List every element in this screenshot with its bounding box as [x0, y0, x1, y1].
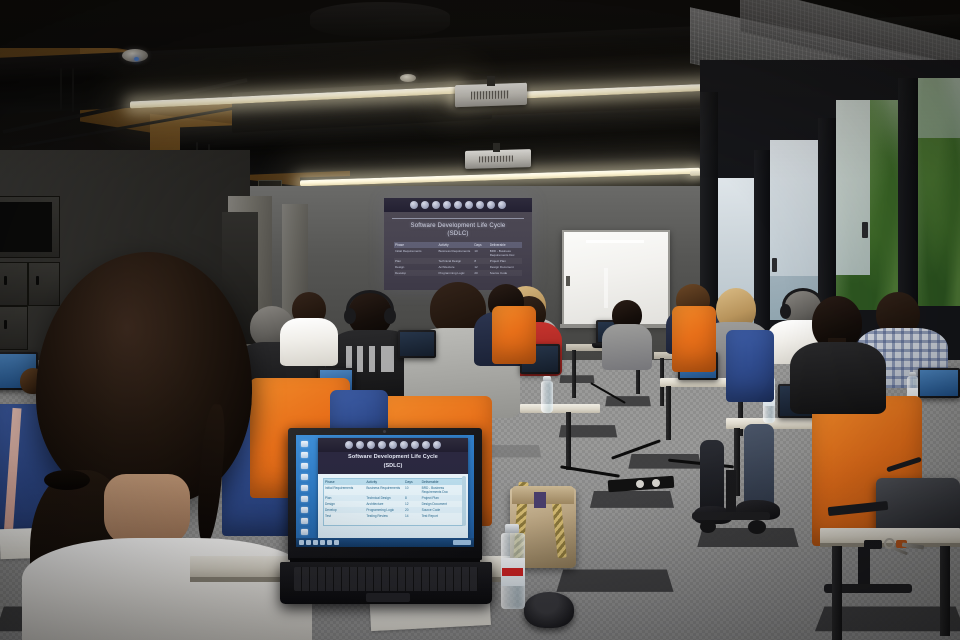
desk-leg	[940, 546, 950, 636]
projection-table-cell: BRD - Business Requirements Doc	[489, 248, 522, 258]
projection-screen: Software Development Life Cycle (SDLC) P…	[384, 198, 532, 290]
window-handle-2[interactable]	[772, 258, 777, 272]
chair-base-mid	[692, 512, 770, 520]
chair-wheel	[700, 520, 716, 533]
locker-handle-2[interactable]	[36, 276, 39, 285]
ceiling-duct-round	[310, 2, 450, 38]
projection-table: Phase Activity Days Deliverable Initial …	[394, 242, 522, 284]
laptop-table-cell: Business Requirements	[365, 485, 404, 495]
smoke-detector-icon	[122, 49, 148, 62]
desktop-icon[interactable]	[301, 452, 308, 458]
headphone-cup-icon-3	[384, 308, 396, 324]
laptop-webcam-icon	[383, 430, 386, 433]
window-mullion-3	[898, 78, 918, 314]
whiteboard-glare-2	[604, 268, 608, 308]
whiteboard-marker-clip[interactable]	[566, 276, 570, 286]
student-laptop[interactable]: Software Development Life Cycle (SDLC) P…	[288, 428, 482, 560]
projection-table-cell: 20	[473, 270, 488, 276]
search-icon	[421, 201, 429, 209]
floor-tile	[605, 396, 651, 406]
window-blind-1	[712, 178, 754, 298]
laptop-keyboard[interactable]	[294, 567, 478, 591]
presentation-window[interactable]: Software Development Life Cycle (SDLC) P…	[318, 438, 468, 538]
bottle-label-brand	[502, 568, 523, 576]
taskbar-item-icon[interactable]	[327, 540, 332, 545]
laptop-table-cell: Test	[324, 513, 365, 519]
globe-icon	[432, 201, 440, 209]
wall-locker-lower-2	[28, 262, 60, 306]
floor-tile	[556, 569, 673, 591]
headphone-cup-icon-2	[344, 308, 356, 324]
window-mullion-1	[754, 150, 770, 340]
projection-slide-title-line1: Software Development Life Cycle	[390, 223, 526, 230]
grid-icon	[498, 201, 506, 209]
desktop-icon[interactable]	[301, 529, 308, 535]
taskbar-item-icon[interactable]	[313, 540, 318, 545]
chair-wheel	[748, 520, 766, 534]
ceiling-hanger-2	[72, 68, 74, 112]
laptop-table-cell: Testing Review	[365, 513, 404, 519]
desktop-icon[interactable]	[301, 496, 308, 502]
window-blind-2	[770, 140, 818, 276]
laptop-slide-title-line2: (SDLC)	[322, 463, 464, 469]
wall-locker-opening	[0, 202, 52, 252]
smoke-detector-secondary-icon	[400, 74, 416, 82]
car-keys[interactable]	[864, 540, 882, 549]
desktop-icon[interactable]	[301, 474, 308, 480]
projection-divider	[392, 218, 524, 219]
whiteboard-glare	[586, 240, 644, 243]
desk-leg	[572, 350, 576, 398]
desktop-icon-column	[299, 439, 313, 539]
chair-blue-right-mid[interactable]	[726, 330, 774, 402]
computer-mouse[interactable]	[524, 592, 574, 628]
power-socket-icon	[636, 480, 644, 488]
projection-table-cell: Source Code	[489, 270, 522, 276]
laptop-taskbar[interactable]	[296, 538, 474, 547]
search-icon[interactable]	[356, 441, 364, 449]
globe-icon[interactable]	[367, 441, 375, 449]
start-button-icon[interactable]	[299, 540, 304, 545]
projection-slide-title-line2: (SDLC)	[390, 231, 526, 238]
gear-icon[interactable]	[411, 441, 419, 449]
projection-table-cell: Programming Logic	[438, 270, 474, 276]
laptop-trackpad[interactable]	[366, 593, 410, 602]
projection-table-cell: Develop	[394, 270, 438, 276]
person-icon[interactable]	[400, 441, 408, 449]
projection-table-cell: Business Requirements	[438, 248, 474, 258]
locker-handle-1[interactable]	[4, 276, 7, 285]
desktop-icon[interactable]	[301, 485, 308, 491]
ceiling-hanger-1	[60, 68, 62, 110]
desk-leg	[832, 546, 842, 640]
student-back-grey-body	[602, 324, 652, 370]
laptop-keyboard-base[interactable]	[280, 562, 492, 604]
student-pale-shirt-body	[280, 318, 338, 366]
disc-icon	[443, 201, 451, 209]
foreground-student-neck	[104, 474, 190, 546]
floor-tile	[590, 491, 674, 508]
taskbar-item-icon[interactable]	[334, 540, 339, 545]
chair-orange-right-back[interactable]	[672, 306, 716, 372]
power-socket-icon-2	[652, 479, 660, 487]
laptop-slide-title-line1: Software Development Life Cycle	[322, 454, 464, 460]
student-right-ponytail-body	[790, 342, 886, 414]
taskbar-item-icon[interactable]	[320, 540, 325, 545]
desk-leg	[566, 412, 571, 470]
disc-icon[interactable]	[378, 441, 386, 449]
desktop-icon[interactable]	[301, 463, 308, 469]
presentation-toolbar	[318, 438, 468, 452]
laptop-table-cell: Test Report	[421, 513, 462, 519]
laptop-slide-table: Phase Activity Days Deliverable Initial …	[323, 478, 463, 526]
laptop-table-cell: 10	[404, 485, 421, 495]
headphone-cup-icon	[780, 304, 791, 319]
window-glare-3	[836, 100, 898, 310]
person-icon	[465, 201, 473, 209]
desktop-icon[interactable]	[301, 518, 308, 524]
window-handle-3[interactable]	[862, 222, 868, 238]
taskbar-item-icon[interactable]	[306, 540, 311, 545]
locker-handle-3[interactable]	[4, 320, 7, 329]
gear-icon	[476, 201, 484, 209]
projection-table-cell: 10	[473, 248, 488, 258]
desktop-icon[interactable]	[301, 507, 308, 513]
laptop-table-cell: 14	[404, 513, 421, 519]
presentation-scrollbar[interactable]	[462, 476, 466, 526]
window-blind-4	[918, 78, 960, 138]
floor-tile	[559, 375, 594, 383]
laptop-right-3[interactable]	[918, 368, 960, 398]
laptop-screen[interactable]: Software Development Life Cycle (SDLC) P…	[296, 435, 474, 547]
laptop-table-cell: Initial Requirements	[324, 485, 365, 495]
desk-mid-row-2	[520, 404, 600, 413]
grid-icon[interactable]	[433, 441, 441, 449]
cursor-icon	[410, 201, 418, 209]
chair-post-mid	[726, 470, 736, 514]
clock-icon	[454, 201, 462, 209]
cursor-icon[interactable]	[345, 441, 353, 449]
chair-orange-mid-far[interactable]	[492, 306, 536, 364]
handbag-accent	[534, 492, 546, 508]
foreground-student-hairtie	[44, 470, 90, 490]
foreground-student-shirt	[22, 538, 312, 640]
projection-toolbar	[384, 198, 532, 212]
desk-leg	[666, 386, 671, 440]
laptop-mid-1[interactable]	[398, 330, 436, 358]
image-icon	[487, 201, 495, 209]
projection-table-cell: Initial Requirements	[394, 248, 438, 258]
clock-icon[interactable]	[389, 441, 397, 449]
desktop-icon[interactable]	[301, 441, 308, 447]
classroom-photo: Software Development Life Cycle (SDLC) P…	[0, 0, 960, 640]
image-icon[interactable]	[422, 441, 430, 449]
laptop-table-cell: BRD - Business Requirements Doc	[421, 485, 462, 495]
system-tray-clock[interactable]	[453, 540, 471, 545]
